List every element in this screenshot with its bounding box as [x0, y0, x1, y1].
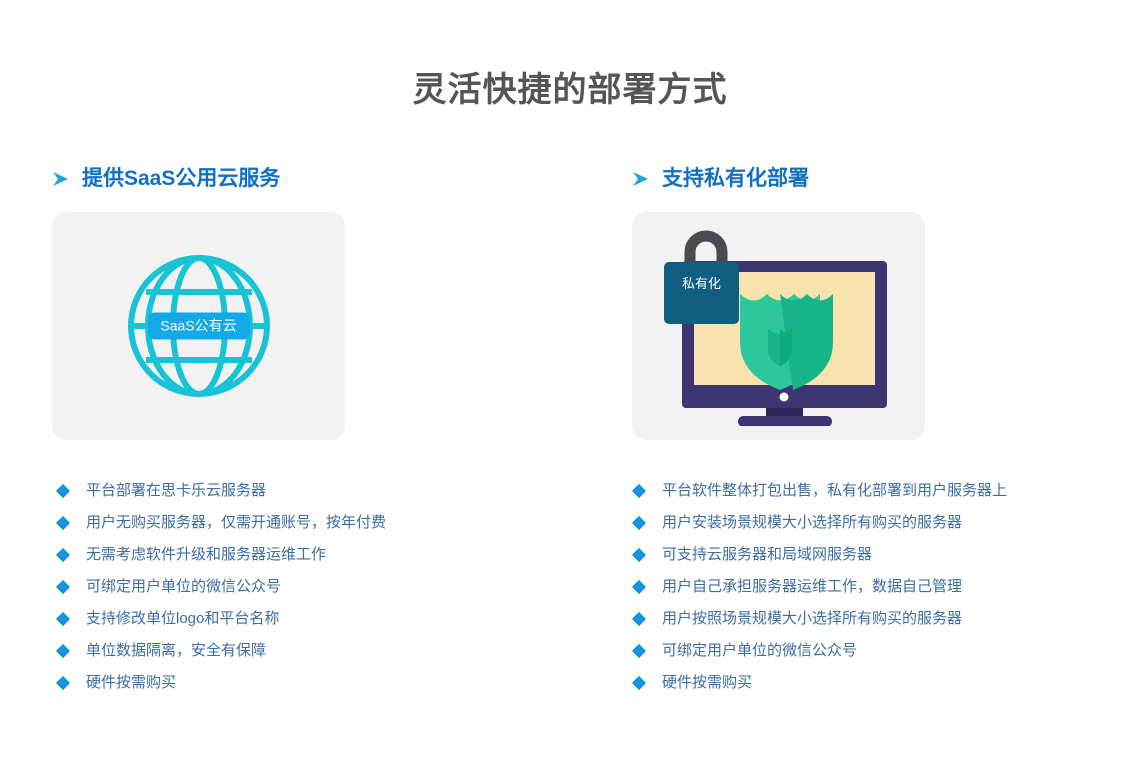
list-item-label: 硬件按需购买 — [662, 672, 752, 694]
diamond-bullet-icon — [56, 676, 70, 690]
list-item: 无需考虑软件升级和服务器运维工作 — [58, 544, 578, 576]
arrow-right-icon — [632, 169, 650, 189]
list-item: 平台软件整体打包出售，私有化部署到用户服务器上 — [634, 480, 1104, 512]
diamond-bullet-icon — [56, 548, 70, 562]
list-item-label: 平台部署在思卡乐云服务器 — [86, 480, 266, 502]
list-item: 单位数据隔离，安全有保障 — [58, 640, 578, 672]
section-title-label: 支持私有化部署 — [662, 168, 809, 189]
diamond-bullet-icon — [56, 644, 70, 658]
diamond-bullet-icon — [632, 580, 646, 594]
list-item-label: 硬件按需购买 — [86, 672, 176, 694]
list-item-label: 单位数据隔离，安全有保障 — [86, 640, 266, 662]
arrow-right-icon — [52, 169, 70, 189]
monitor-shield-lock-icon: 私有化 — [654, 226, 904, 426]
list-item: 支持修改单位logo和平台名称 — [58, 608, 578, 640]
section-heading-private: 支持私有化部署 — [632, 168, 809, 189]
lock-label: 私有化 — [668, 277, 736, 290]
list-item-label: 支持修改单位logo和平台名称 — [86, 608, 279, 630]
bullet-list-private: 平台软件整体打包出售，私有化部署到用户服务器上 用户安装场景规模大小选择所有购买… — [634, 480, 1104, 704]
list-item-label: 可支持云服务器和局域网服务器 — [662, 544, 872, 566]
diamond-bullet-icon — [632, 548, 646, 562]
list-item: 用户无购买服务器，仅需开通账号，按年付费 — [58, 512, 578, 544]
list-item-label: 用户安装场景规模大小选择所有购买的服务器 — [662, 512, 962, 534]
list-item-label: 用户自己承担服务器运维工作，数据自己管理 — [662, 576, 962, 598]
illustration-card-private: 私有化 — [632, 212, 925, 440]
list-item: 用户安装场景规模大小选择所有购买的服务器 — [634, 512, 1104, 544]
diamond-bullet-icon — [56, 612, 70, 626]
list-item-label: 平台软件整体打包出售，私有化部署到用户服务器上 — [662, 480, 1007, 502]
diamond-bullet-icon — [632, 484, 646, 498]
list-item: 可绑定用户单位的微信公众号 — [634, 640, 1104, 672]
list-item: 可支持云服务器和局域网服务器 — [634, 544, 1104, 576]
list-item-label: 可绑定用户单位的微信公众号 — [86, 576, 281, 598]
bullet-list-saas: 平台部署在思卡乐云服务器 用户无购买服务器，仅需开通账号，按年付费 无需考虑软件… — [58, 480, 578, 704]
diamond-bullet-icon — [56, 580, 70, 594]
list-item: 可绑定用户单位的微信公众号 — [58, 576, 578, 608]
list-item: 平台部署在思卡乐云服务器 — [58, 480, 578, 512]
diamond-bullet-icon — [632, 644, 646, 658]
list-item: 硬件按需购买 — [634, 672, 1104, 704]
illustration-card-saas: SaaS公有云 — [52, 212, 345, 440]
list-item-label: 无需考虑软件升级和服务器运维工作 — [86, 544, 326, 566]
globe-icon: SaaS公有云 — [124, 251, 274, 401]
page-title: 灵活快捷的部署方式 — [0, 62, 1140, 111]
diamond-bullet-icon — [632, 612, 646, 626]
section-title-label: 提供SaaS公用云服务 — [82, 168, 280, 189]
section-heading-saas: 提供SaaS公用云服务 — [52, 168, 280, 189]
list-item-label: 可绑定用户单位的微信公众号 — [662, 640, 857, 662]
list-item: 用户按照场景规模大小选择所有购买的服务器 — [634, 608, 1104, 640]
list-item-label: 用户按照场景规模大小选择所有购买的服务器 — [662, 608, 962, 630]
list-item: 硬件按需购买 — [58, 672, 578, 704]
diamond-bullet-icon — [56, 516, 70, 530]
diamond-bullet-icon — [56, 484, 70, 498]
diamond-bullet-icon — [632, 516, 646, 530]
diamond-bullet-icon — [632, 676, 646, 690]
list-item: 用户自己承担服务器运维工作，数据自己管理 — [634, 576, 1104, 608]
list-item-label: 用户无购买服务器，仅需开通账号，按年付费 — [86, 512, 386, 534]
globe-label: SaaS公有云 — [147, 313, 249, 340]
slide-root: 灵活快捷的部署方式 提供SaaS公用云服务 SaaS公有云 — [0, 0, 1140, 760]
